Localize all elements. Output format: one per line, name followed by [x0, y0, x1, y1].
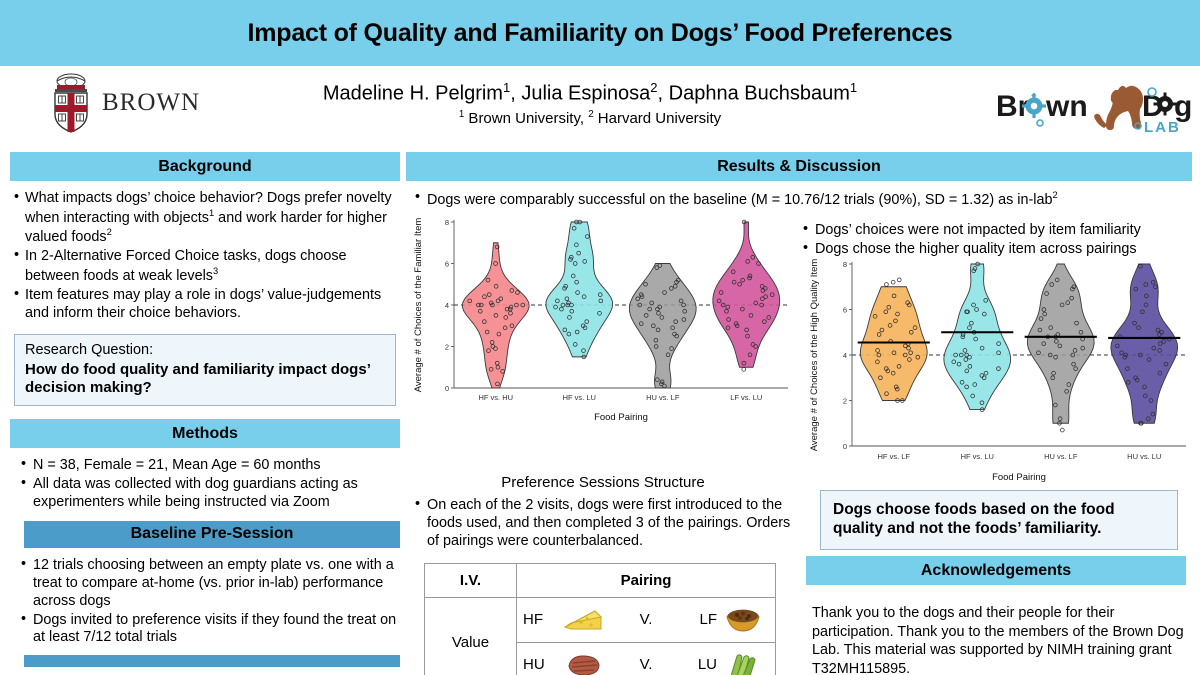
table-header-pairing: Pairing: [517, 563, 776, 597]
results-right-bullet-1: Dogs chose the higher quality item acros…: [815, 241, 1137, 257]
list-item: Item features may play a role in dogs’ v…: [14, 287, 400, 323]
section-header-acknowledgements: Acknowledgements: [806, 556, 1186, 585]
pairing-cell-row1: HU V. LU: [517, 642, 776, 675]
results-top-bullet: Dogs were comparably successful on the b…: [412, 190, 1192, 211]
table-row: Value HF V.: [425, 597, 776, 642]
research-question-label: Research Question:: [25, 342, 385, 358]
svg-text:Food Pairing: Food Pairing: [992, 472, 1046, 482]
pair-right-code: LU: [683, 656, 717, 673]
section-header-background-label: Background: [158, 158, 251, 176]
brown-wordmark: BROWN: [102, 89, 200, 117]
chart-familiarity-svg: 02468HF vs. HUHF vs. LUHU vs. LFLF vs. L…: [410, 214, 796, 422]
brown-dog-lab-logo: Br wn: [992, 76, 1192, 138]
author-affiliations: 1 Brown University, 2 Harvard University: [230, 109, 950, 127]
table-header-row: I.V. Pairing: [425, 563, 776, 597]
pair-left-code: HU: [523, 656, 557, 673]
section-header-baseline-label: Baseline Pre-Session: [131, 525, 294, 543]
list-item: Dogs invited to preference visits if the…: [18, 612, 400, 648]
section-header-methods-label: Methods: [172, 425, 238, 443]
svg-text:LF vs. LU: LF vs. LU: [730, 393, 762, 402]
preference-sessions-block: Preference Sessions Structure On each of…: [406, 474, 800, 675]
svg-text:HF vs. LU: HF vs. LU: [563, 393, 596, 402]
svg-text:4: 4: [843, 351, 847, 360]
svg-text:2: 2: [445, 343, 449, 352]
results-right-bullet-list: Dogs’ choices were not impacted by item …: [800, 222, 1196, 259]
list-item: On each of the 2 visits, dogs were first…: [412, 497, 800, 551]
section-header-methods: Methods: [10, 419, 400, 448]
svg-text:HU vs. LF: HU vs. LF: [1044, 452, 1078, 461]
background-bullet-0: What impacts dogs’ choice behavior? Dogs…: [25, 190, 392, 245]
svg-text:HF vs. LU: HF vs. LU: [961, 452, 994, 461]
pair-right-code: LF: [683, 611, 717, 628]
svg-text:0: 0: [445, 384, 449, 393]
preference-sessions-title: Preference Sessions Structure: [406, 474, 800, 491]
iv-pairing-table: I.V. Pairing Value HF: [424, 563, 776, 675]
preference-bullet-list: On each of the 2 visits, dogs were first…: [406, 497, 800, 551]
research-question-box: Research Question: How do food quality a…: [14, 334, 396, 406]
background-bullet-2: Item features may play a role in dogs’ v…: [25, 287, 381, 321]
table-header-iv: I.V.: [425, 563, 517, 597]
brown-dog-lab-logo-icon: Br wn: [992, 76, 1192, 138]
svg-text:HU vs. LU: HU vs. LU: [1127, 452, 1161, 461]
svg-text:Average # of Choices of the Fa: Average # of Choices of the Familiar Ite…: [413, 218, 424, 393]
baseline-bullet-0: 12 trials choosing between an empty plat…: [33, 557, 394, 609]
svg-text:HF vs. LF: HF vs. LF: [877, 452, 910, 461]
svg-text:HU vs. LF: HU vs. LF: [646, 393, 680, 402]
celery-icon: [717, 648, 769, 675]
svg-text:Average # of Choices of the Hi: Average # of Choices of the High Quality…: [809, 259, 820, 452]
section-header-next-partial: [24, 655, 400, 667]
brown-university-logo: BROWN: [48, 72, 200, 134]
steak-icon: [557, 648, 609, 675]
left-column: Background What impacts dogs’ choice beh…: [10, 152, 400, 667]
svg-text:8: 8: [445, 218, 449, 227]
list-item: Dogs’ choices were not impacted by item …: [800, 222, 1196, 240]
svg-text:0: 0: [843, 442, 847, 451]
brown-university-seal-icon: [48, 72, 94, 134]
section-header-baseline: Baseline Pre-Session: [24, 521, 400, 548]
svg-text:LAB: LAB: [1144, 119, 1181, 136]
svg-text:Food Pairing: Food Pairing: [594, 412, 648, 422]
conclusion-box: Dogs choose foods based on the food qual…: [820, 490, 1178, 550]
acknowledgements-text: Thank you to the dogs and their people f…: [812, 604, 1188, 675]
pair-separator: V.: [609, 656, 683, 673]
title-banner: Impact of Quality and Familiarity on Dog…: [0, 0, 1200, 66]
svg-text:6: 6: [843, 306, 847, 315]
list-item: What impacts dogs’ choice behavior? Dogs…: [14, 190, 400, 247]
poster-root: Impact of Quality and Familiarity on Dog…: [0, 0, 1200, 675]
conclusion-text: Dogs choose foods based on the food qual…: [820, 490, 1178, 550]
pair-left-code: HF: [523, 611, 557, 628]
background-bullet-list: What impacts dogs’ choice behavior? Dogs…: [10, 190, 400, 322]
svg-text:HF vs. HU: HF vs. HU: [478, 393, 513, 402]
pairing-cell-row0: HF V. LF: [517, 597, 776, 642]
methods-bullet-1: All data was collected with dog guardian…: [33, 476, 358, 510]
chart-familiarity-violin: 02468HF vs. HUHF vs. LUHU vs. LFLF vs. L…: [410, 214, 796, 422]
section-header-results-label: Results & Discussion: [717, 158, 881, 176]
list-item: N = 38, Female = 21, Mean Age = 60 month…: [18, 457, 400, 475]
list-item: All data was collected with dog guardian…: [18, 476, 400, 512]
preference-bullet-0: On each of the 2 visits, dogs were first…: [427, 497, 790, 549]
svg-text:wn: wn: [1045, 90, 1088, 123]
chart-quality-violin: 02468HF vs. LFHF vs. LUHU vs. LFHU vs. L…: [806, 256, 1194, 482]
baseline-bullet-1: Dogs invited to preference visits if the…: [33, 612, 396, 646]
svg-text:8: 8: [843, 260, 847, 269]
list-item: In 2-Alternative Forced Choice tasks, do…: [14, 248, 400, 286]
list-item: Dogs were comparably successful on the b…: [412, 190, 1192, 210]
results-right-bullet-0: Dogs’ choices were not impacted by item …: [815, 222, 1141, 238]
baseline-bullet-list: 12 trials choosing between an empty plat…: [10, 557, 400, 647]
author-names: Madeline H. Pelgrim1, Julia Espinosa2, D…: [230, 80, 950, 106]
background-bullet-1: In 2-Alternative Forced Choice tasks, do…: [25, 248, 347, 284]
author-strip: BROWN Madeline H. Pelgrim1, Julia Espino…: [0, 66, 1200, 149]
cheese-wedge-icon: [557, 603, 609, 637]
pair-separator: V.: [609, 611, 683, 628]
results-right-bullets: Dogs’ choices were not impacted by item …: [800, 222, 1196, 260]
section-header-results: Results & Discussion: [406, 152, 1192, 181]
author-block: Madeline H. Pelgrim1, Julia Espinosa2, D…: [230, 80, 950, 127]
research-question-text: How do food quality and familiarity impa…: [25, 361, 385, 397]
section-header-acknowledgements-label: Acknowledgements: [921, 562, 1071, 580]
svg-text:6: 6: [445, 260, 449, 269]
iv-cell-value: Value: [425, 597, 517, 675]
section-header-background: Background: [10, 152, 400, 181]
methods-bullet-list: N = 38, Female = 21, Mean Age = 60 month…: [10, 457, 400, 512]
dog-food-bowl-icon: [717, 603, 769, 637]
results-top-bullet-text: Dogs were comparably successful on the b…: [427, 192, 1058, 208]
page-title: Impact of Quality and Familiarity on Dog…: [247, 19, 952, 48]
results-top-bullet-list: Dogs were comparably successful on the b…: [412, 190, 1192, 210]
chart-quality-svg: 02468HF vs. LFHF vs. LUHU vs. LFHU vs. L…: [806, 256, 1194, 482]
list-item: 12 trials choosing between an empty plat…: [18, 557, 400, 611]
methods-bullet-0: N = 38, Female = 21, Mean Age = 60 month…: [33, 457, 321, 473]
svg-text:4: 4: [445, 301, 449, 310]
svg-text:2: 2: [843, 397, 847, 406]
